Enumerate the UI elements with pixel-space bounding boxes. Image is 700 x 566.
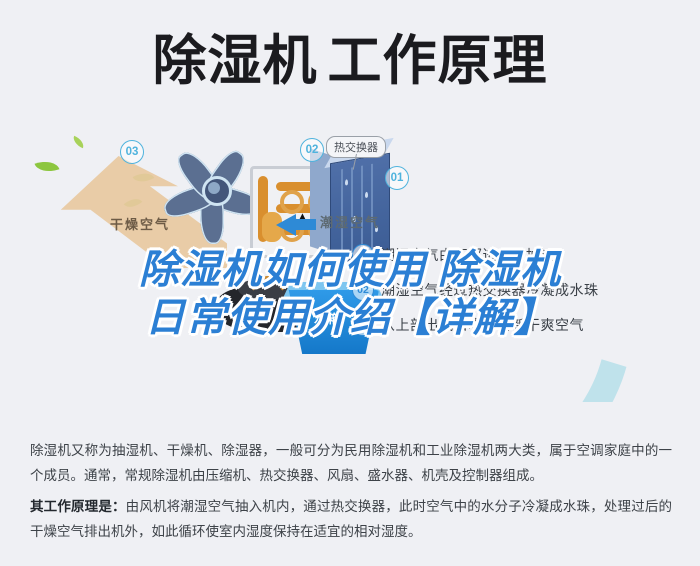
paragraph-definition: 除湿机又称为抽湿机、干燥机、除湿器，一般可分为民用除湿机和工业除湿机两大类，属于… [30, 438, 672, 488]
page-title-part2: 工作原理 [328, 31, 548, 91]
page-root: 除湿机工作原理 03 干燥空气 [0, 0, 700, 566]
page-title: 除湿机工作原理 [0, 28, 700, 94]
legend-text: 潮湿空气由下部进风口抽进 [381, 245, 555, 265]
water-tank-label: 水箱 [314, 310, 340, 327]
humid-air-arrow-shaft [294, 219, 316, 230]
legend-badge: 03 [352, 314, 374, 336]
humid-air-badge: 01 [385, 166, 409, 190]
paragraph-principle-body: 由风机将潮湿空气抽入机内，通过热交换器，此时空气中的水分子冷凝成水珠，处理过后的… [30, 499, 672, 539]
page-title-part1: 除湿机 [153, 31, 318, 91]
leaf-icon [71, 136, 86, 149]
leaf-icon [35, 157, 60, 176]
article-body: 除湿机又称为抽湿机、干燥机、除湿器，一般可分为民用除湿机和工业除湿机两大类，属于… [0, 402, 700, 566]
legend-item: 03 从上部出风口吹出清新干爽空气 [352, 314, 692, 336]
hero-image: 除湿机工作原理 03 干燥空气 [0, 0, 700, 402]
legend-item: 02 潮湿空气经过热交换器冷凝成水珠 [352, 279, 692, 301]
humid-air-arrow-head [276, 214, 296, 236]
legend-text: 从上部出风口吹出清新干爽空气 [381, 315, 584, 335]
humid-air-label: 潮湿空气 [320, 212, 380, 231]
paragraph-principle-lead: 其工作原理是： [30, 499, 126, 514]
paragraph-principle: 其工作原理是：由风机将潮湿空气抽入机内，通过热交换器，此时空气中的水分子冷凝成水… [30, 494, 672, 544]
dry-air-badge: 03 [120, 140, 144, 164]
dry-air-label: 干燥空气 [110, 214, 170, 233]
legend-badge: 02 [352, 279, 374, 301]
compressor-copper-loop [250, 276, 286, 294]
legend-item: 01 潮湿空气由下部进风口抽进 [352, 244, 692, 266]
legend-text: 潮湿空气经过热交换器冷凝成水珠 [381, 280, 599, 300]
fan-hub-center [208, 182, 220, 194]
legend-badge: 01 [352, 244, 374, 266]
diagram-legend: 01 潮湿空气由下部进风口抽进 02 潮湿空气经过热交换器冷凝成水珠 03 从上… [352, 244, 692, 349]
